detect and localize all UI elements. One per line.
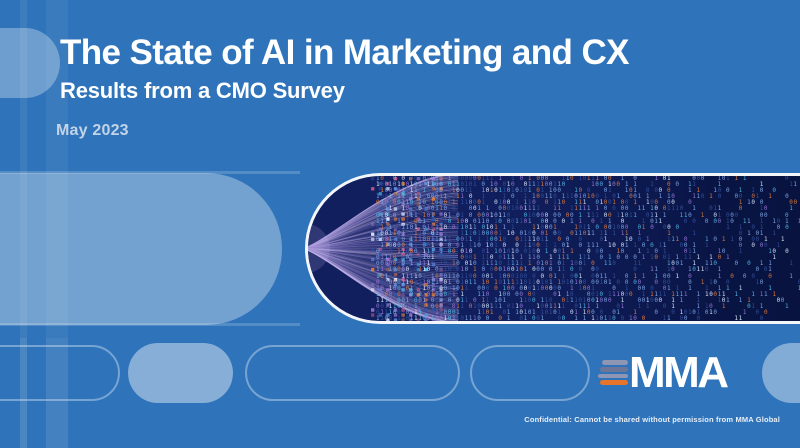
- decorative-pill-bottom-filled: [128, 343, 233, 403]
- mma-logo-bars-icon: [598, 360, 628, 386]
- mma-logo: MMA: [598, 352, 727, 394]
- dataviz-binary-digits: 10 0 0 00100011 10000000111 1 1 0 1 000 …: [376, 176, 800, 321]
- slide-header: The State of AI in Marketing and CX Resu…: [60, 34, 629, 104]
- decorative-rule-top: [0, 171, 300, 174]
- decorative-rule-bottom: [0, 323, 300, 326]
- page-subtitle: Results from a CMO Survey: [60, 78, 629, 104]
- decorative-pill-top-left: [0, 28, 60, 98]
- decorative-band-bottom-b: [46, 338, 68, 448]
- decorative-pill-bottom-2: [245, 345, 460, 401]
- slide-date: May 2023: [56, 122, 129, 140]
- footer-confidentiality-notice: Confidential: Cannot be shared without p…: [0, 415, 790, 424]
- decorative-pill-bottom-3: [470, 345, 590, 401]
- dataviz-panel: 10 0 0 00100011 10000000111 1 1 0 1 000 …: [305, 173, 800, 324]
- decorative-pill-mid-left: [0, 173, 282, 325]
- dataviz-inner: 10 0 0 00100011 10000000111 1 1 0 1 000 …: [308, 176, 800, 321]
- mma-logo-text: MMA: [629, 353, 727, 393]
- decorative-pill-bottom-right: [762, 343, 800, 403]
- page-title: The State of AI in Marketing and CX: [60, 34, 629, 72]
- decorative-band-bottom-a: [20, 338, 27, 448]
- title-slide: The State of AI in Marketing and CX Resu…: [0, 0, 800, 448]
